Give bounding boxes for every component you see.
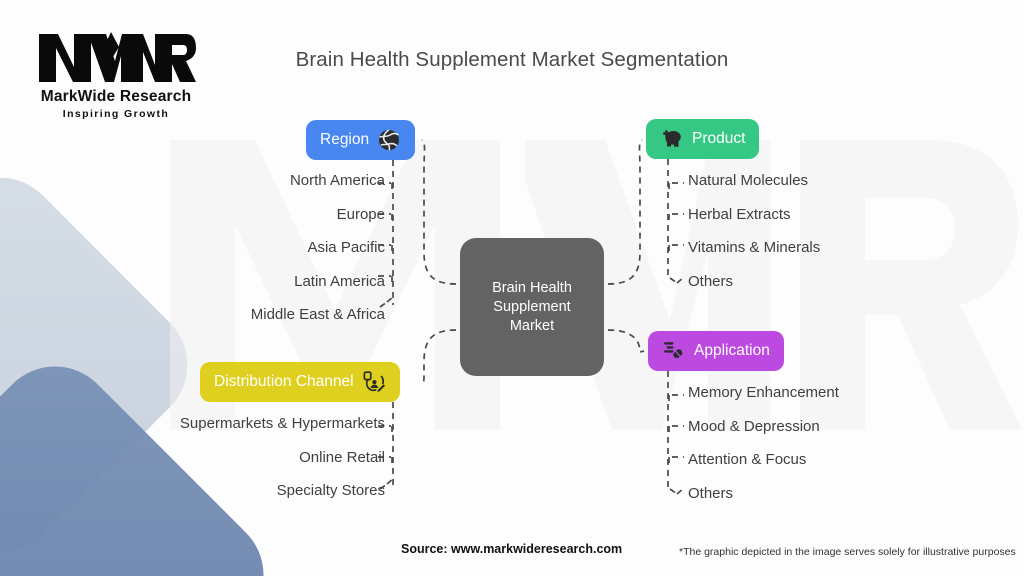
center-line-2: Supplement: [492, 298, 572, 317]
branch-node-distribution-channel[interactable]: Distribution Channel: [200, 362, 400, 402]
branch-label-application: Application: [694, 342, 770, 360]
page-title: Brain Health Supplement Market Segmentat…: [0, 48, 1024, 72]
branch-label-region: Region: [320, 131, 369, 149]
branch-label-distribution-channel: Distribution Channel: [214, 373, 354, 391]
pill-capsule-icon: [662, 339, 686, 363]
list-item[interactable]: Europe: [40, 206, 385, 223]
list-item[interactable]: Memory Enhancement: [688, 384, 1008, 401]
list-item[interactable]: Middle East & Africa: [40, 306, 385, 323]
center-node[interactable]: Brain Health Supplement Market: [460, 238, 604, 376]
disclaimer-note: *The graphic depicted in the image serve…: [679, 546, 1016, 558]
list-item[interactable]: Specialty Stores: [40, 482, 385, 499]
list-item[interactable]: Attention & Focus: [688, 451, 1008, 468]
branch-items-product: Natural Molecules Herbal Extracts Vitami…: [688, 172, 1008, 306]
user-edit-icon: [362, 370, 386, 394]
brand-logo: MarkWide Research Inspiring Growth: [28, 30, 204, 126]
slide-canvas: MarkWide Research Inspiring Growth Brain…: [0, 0, 1024, 576]
branch-node-application[interactable]: Application: [648, 331, 784, 371]
logo-tagline: Inspiring Growth: [28, 108, 204, 120]
center-line-1: Brain Health: [492, 279, 572, 298]
list-item[interactable]: Latin America: [40, 273, 385, 290]
branch-node-region[interactable]: Region: [306, 120, 415, 160]
list-item[interactable]: Vitamins & Minerals: [688, 239, 1008, 256]
branch-items-region: North America Europe Asia Pacific Latin …: [40, 172, 385, 340]
branch-items-distribution-channel: Supermarkets & Hypermarkets Online Retai…: [40, 415, 385, 516]
list-item[interactable]: Asia Pacific: [40, 239, 385, 256]
list-item[interactable]: Online Retail: [40, 449, 385, 466]
list-item[interactable]: North America: [40, 172, 385, 189]
list-item[interactable]: Supermarkets & Hypermarkets: [40, 415, 385, 432]
source-label[interactable]: Source: www.markwideresearch.com: [401, 542, 622, 556]
list-item[interactable]: Others: [688, 273, 1008, 290]
logo-company-name: MarkWide Research: [28, 88, 204, 106]
branch-node-product[interactable]: Product: [646, 119, 759, 159]
center-node-label: Brain Health Supplement Market: [492, 279, 572, 336]
list-item[interactable]: Others: [688, 485, 1008, 502]
list-item[interactable]: Mood & Depression: [688, 418, 1008, 435]
globe-icon: [377, 128, 401, 152]
head-plus-icon: [660, 127, 684, 151]
branch-items-application: Memory Enhancement Mood & Depression Att…: [688, 384, 1008, 518]
branch-label-product: Product: [692, 130, 745, 148]
center-line-3: Market: [492, 317, 572, 336]
list-item[interactable]: Natural Molecules: [688, 172, 1008, 189]
list-item[interactable]: Herbal Extracts: [688, 206, 1008, 223]
